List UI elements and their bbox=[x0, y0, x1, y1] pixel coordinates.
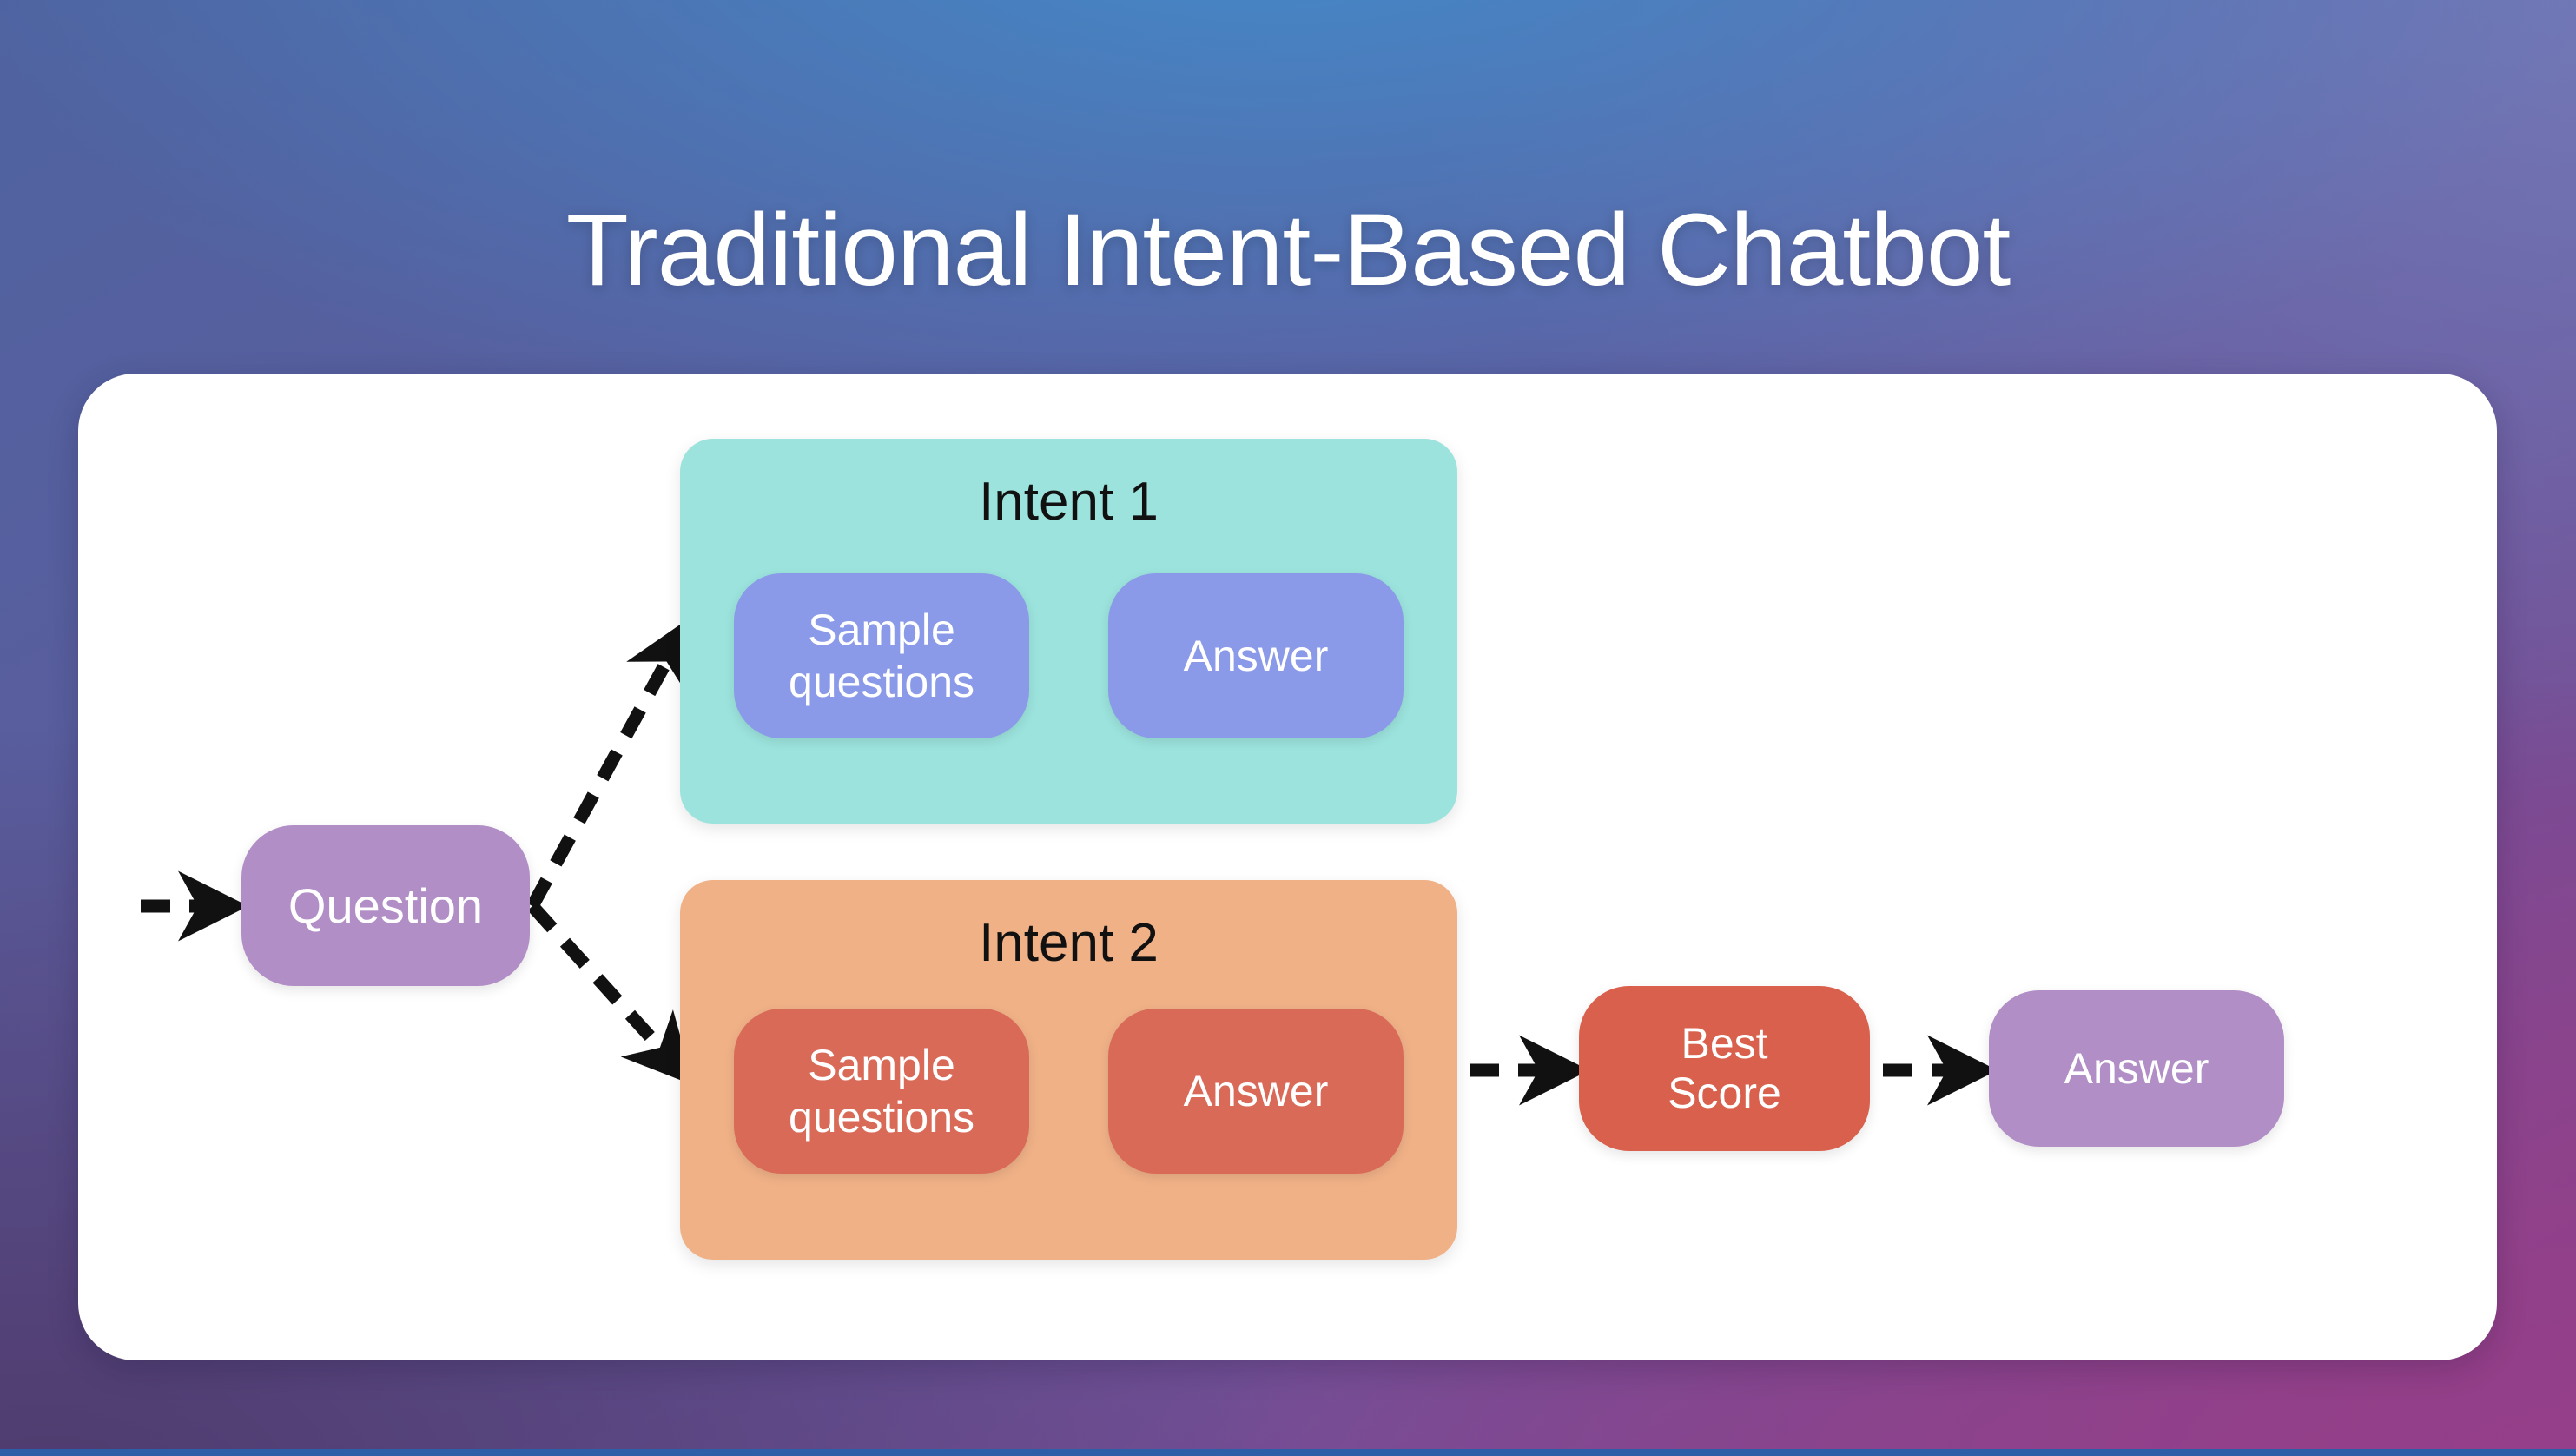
intent-1-container[interactable]: Intent 1 Sample questions Answer bbox=[680, 439, 1457, 824]
intent-1-answer-pill[interactable]: Answer bbox=[1108, 573, 1404, 738]
best-score-node[interactable]: Best Score bbox=[1579, 986, 1870, 1151]
intent-2-answer-label: Answer bbox=[1184, 1065, 1329, 1117]
question-node[interactable]: Question bbox=[241, 825, 530, 986]
best-score-node-label: Best Score bbox=[1668, 1019, 1781, 1118]
page-title: Traditional Intent-Based Chatbot bbox=[0, 199, 2576, 301]
slide-canvas: Traditional Intent-Based Chatbot Questio… bbox=[0, 0, 2576, 1456]
final-answer-node-label: Answer bbox=[2064, 1044, 2209, 1094]
intent-2-title: Intent 2 bbox=[680, 917, 1457, 970]
question-node-label: Question bbox=[288, 878, 483, 934]
intent-2-container[interactable]: Intent 2 Sample questions Answer bbox=[680, 880, 1457, 1260]
intent-1-answer-label: Answer bbox=[1184, 630, 1329, 682]
bottom-accent-strip bbox=[0, 1449, 2576, 1456]
intent-1-sample-questions-pill[interactable]: Sample questions bbox=[734, 573, 1029, 738]
intent-1-title: Intent 1 bbox=[680, 475, 1457, 529]
final-answer-node[interactable]: Answer bbox=[1989, 990, 2284, 1147]
intent-1-sample-questions-label: Sample questions bbox=[789, 604, 974, 708]
intent-2-sample-questions-pill[interactable]: Sample questions bbox=[734, 1009, 1029, 1174]
intent-2-sample-questions-label: Sample questions bbox=[789, 1039, 974, 1143]
intent-2-answer-pill[interactable]: Answer bbox=[1108, 1009, 1404, 1174]
